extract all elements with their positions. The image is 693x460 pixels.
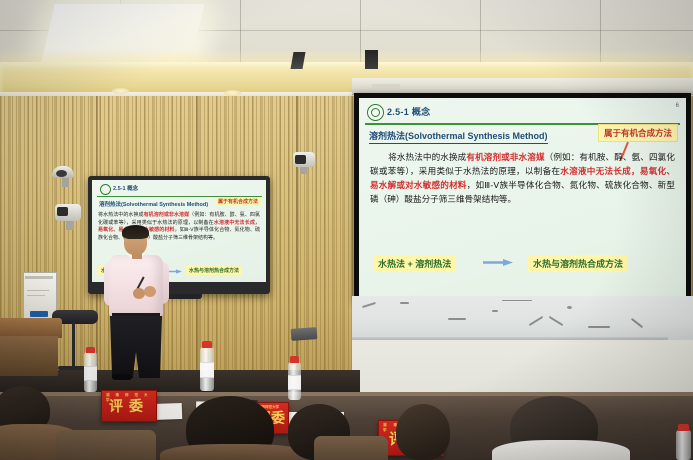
slide-subtitle: 溶剂热法(Solvothermal Synthesis Method) bbox=[369, 129, 548, 144]
slide-body-text: 将水热法中的水换成有机溶剂或非水溶媒（例如：有机胺、醇、氨、四氯化碳或苯等），采… bbox=[370, 150, 675, 206]
downlight bbox=[112, 88, 129, 94]
chair-leg bbox=[72, 322, 75, 370]
camera-mount bbox=[66, 221, 73, 230]
camera-mount bbox=[62, 178, 69, 187]
display-slide-title: 2.5-1 概念 bbox=[113, 184, 138, 192]
wallbox-logo bbox=[30, 311, 48, 317]
audience-shoulders bbox=[492, 440, 630, 460]
audience-head bbox=[396, 404, 450, 460]
whiteboard-eraser[interactable] bbox=[291, 327, 318, 341]
nameplate-org: 湖南师范大学 bbox=[106, 393, 156, 403]
water-bottle[interactable] bbox=[676, 430, 691, 460]
display-callout: 属于有机合成方法 bbox=[215, 197, 261, 206]
bottle-cap bbox=[290, 356, 299, 363]
ceiling-sensor-icon bbox=[365, 50, 378, 69]
university-emblem-icon bbox=[367, 104, 384, 121]
housing-badge bbox=[372, 84, 400, 89]
ptz-camera-icon bbox=[293, 152, 315, 167]
slide-title: 2.5-1 概念 bbox=[387, 105, 430, 118]
camera-mount bbox=[300, 167, 307, 174]
ptz-camera-icon bbox=[55, 204, 81, 221]
presenter-hair bbox=[122, 225, 149, 239]
slide-callout-box: 属于有机合成方法 bbox=[598, 124, 678, 142]
presenter-shirt bbox=[109, 255, 163, 317]
bottle-cap bbox=[86, 347, 95, 353]
projected-slide: 2.5-1 概念 6 溶剂热法(Solvothermal Synthesis M… bbox=[359, 98, 686, 296]
bottle-label bbox=[200, 362, 214, 378]
audience-chair bbox=[56, 430, 156, 460]
wallbox-top-bar bbox=[25, 276, 53, 279]
bottle-label bbox=[288, 375, 301, 390]
whiteboard bbox=[352, 296, 693, 340]
right-arrow-icon bbox=[483, 259, 513, 266]
side-desk bbox=[0, 318, 62, 338]
bottle-cap bbox=[678, 424, 689, 431]
audience-shoulders bbox=[160, 444, 310, 460]
nameplate: 湖南师范大学 评委 bbox=[101, 390, 157, 422]
display-body-text: 将水热法中的水换成有机溶剂或非水溶媒（例如：有机胺、醇、氨、四氯化碳或苯等），采… bbox=[98, 212, 260, 242]
slide-page-number: 6 bbox=[676, 103, 679, 109]
equation-left: 水热法 + 溶剂热法 bbox=[373, 255, 456, 272]
display-slide-subtitle: 溶剂热法(Solvothermal Synthesis Method) bbox=[99, 200, 208, 208]
lecture-hall-photo: 2.5-1 概念 6 溶剂热法(Solvothermal Synthesis M… bbox=[0, 0, 693, 460]
bottle-label bbox=[84, 366, 97, 381]
presenter-shoe bbox=[112, 374, 132, 380]
display-equation-right: 水热与溶剂热合成方法 bbox=[186, 266, 242, 275]
dome-camera-icon bbox=[52, 166, 74, 178]
slide-equation-row: 水热法 + 溶剂热法 水热与溶剂热合成方法 bbox=[373, 255, 673, 273]
bottle-cap bbox=[202, 341, 212, 348]
side-desk-body bbox=[0, 336, 58, 376]
university-emblem-icon bbox=[100, 184, 111, 195]
audience-chair bbox=[314, 436, 388, 460]
equation-right: 水热与溶剂热合成方法 bbox=[528, 255, 628, 272]
presenter-right-hand bbox=[144, 286, 156, 297]
